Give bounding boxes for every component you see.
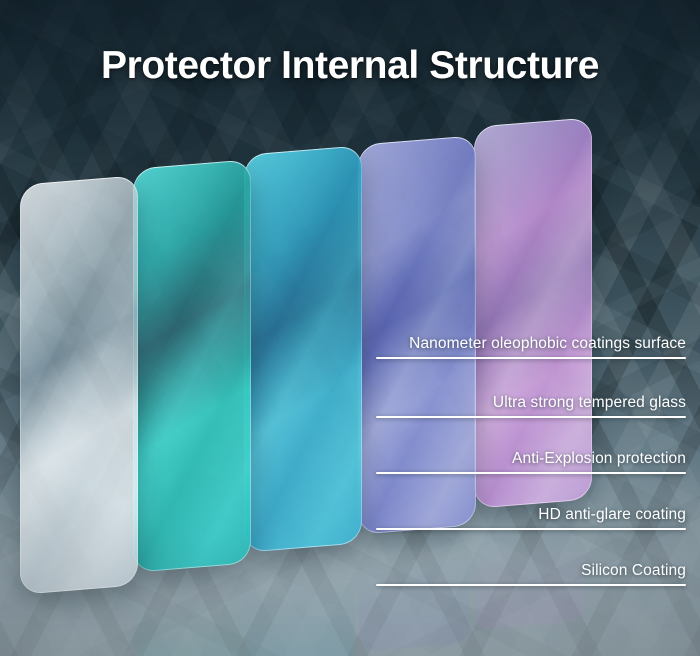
callout-rule: [376, 416, 686, 419]
callout-nanometer-oleophobic-coatings-surface: Nanometer oleophobic coatings surface: [376, 312, 686, 359]
infographic-canvas: Protector Internal Structure Nanometer o…: [0, 0, 700, 656]
callout-label: Anti-Explosion protection: [512, 450, 686, 468]
callout-label: Silicon Coating: [581, 562, 686, 580]
callout-label: Nanometer oleophobic coatings surface: [409, 335, 686, 353]
callout-rule: [376, 357, 686, 360]
callout-silicon-coating: Silicon Coating: [376, 539, 686, 586]
callout-rule: [376, 528, 686, 531]
callout-rule: [376, 472, 686, 475]
callout-hd-anti-glare-coating: HD anti-glare coating: [376, 483, 686, 530]
callout-label: Ultra strong tempered glass: [493, 394, 686, 412]
callout-rule: [376, 584, 686, 587]
callout-list: Nanometer oleophobic coatings surface Ul…: [0, 0, 700, 656]
callout-anti-explosion-protection: Anti-Explosion protection: [376, 427, 686, 474]
callout-label: HD anti-glare coating: [538, 506, 686, 524]
callout-ultra-strong-tempered-glass: Ultra strong tempered glass: [376, 371, 686, 418]
